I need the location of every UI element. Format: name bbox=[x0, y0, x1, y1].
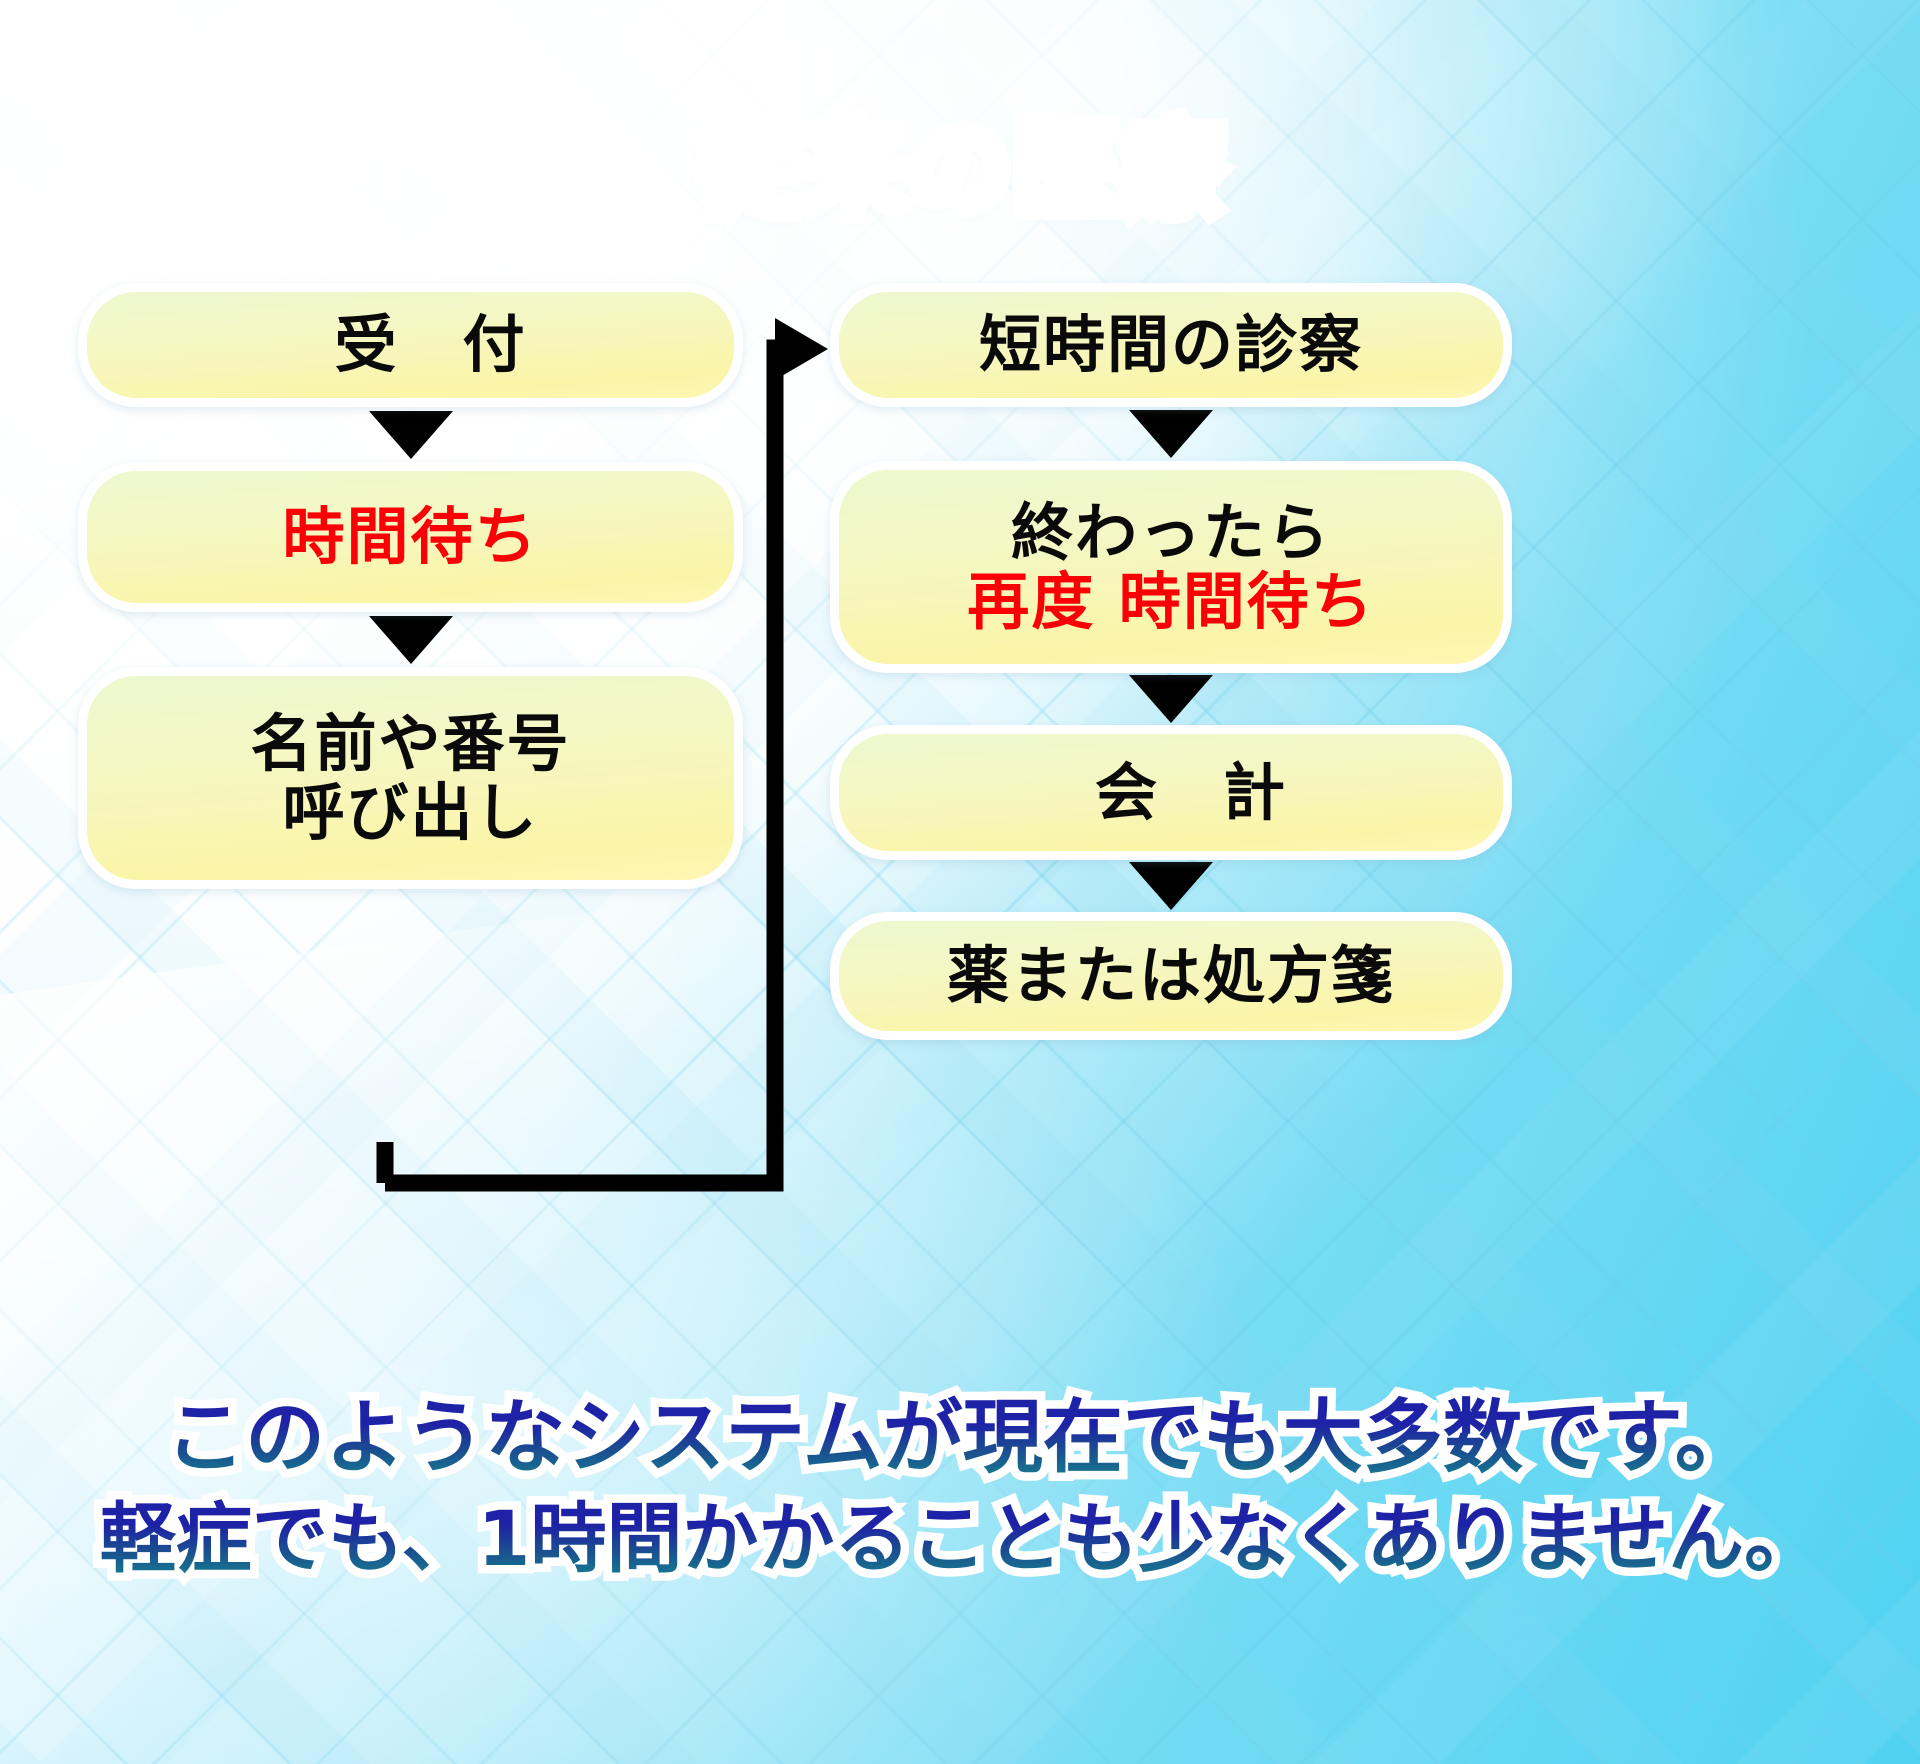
arrow-uketsuke-to-jikanmachi bbox=[78, 407, 743, 462]
flow-column-right: 短時間の診察 終わったら 再度 時間待ち 会 計 薬または処方箋 bbox=[830, 283, 1512, 1040]
flow-node-kaikei[interactable]: 会 計 bbox=[830, 725, 1512, 860]
triangle-down-icon bbox=[369, 616, 453, 664]
flow-node-jikanmachi-label: 時間待ち bbox=[282, 502, 538, 571]
background-sheen bbox=[0, 900, 782, 1764]
arrow-saido-to-kaikei bbox=[830, 673, 1512, 725]
flow-node-yobidashi[interactable]: 名前や番号 呼び出し bbox=[78, 667, 743, 889]
arrow-shinsatsu-to-saido bbox=[830, 407, 1512, 461]
flow-node-yobidashi-label: 名前や番号 呼び出し bbox=[250, 709, 570, 848]
slide-canvas: 従来の医療 受 付 時間待ち 名前や番号 呼び出し 短時間の診察 bbox=[0, 0, 1920, 1764]
page-title-text: 従来の医療 bbox=[695, 118, 1225, 222]
bottom-caption: このようなシステムが現在でも大多数です。 軽症でも、1時間かかることも少なくあり… bbox=[0, 1392, 1920, 1583]
flow-node-saido-label-line2: 再度 時間待ち bbox=[967, 567, 1375, 636]
caption-line-2: 軽症でも、1時間かかることも少なくありません。 bbox=[0, 1495, 1920, 1583]
flow-node-kusuri-label: 薬または処方箋 bbox=[947, 941, 1395, 1010]
flow-node-jikanmachi[interactable]: 時間待ち bbox=[78, 462, 743, 612]
flow-node-shinsatsu[interactable]: 短時間の診察 bbox=[830, 283, 1512, 407]
flow-column-left: 受 付 時間待ち 名前や番号 呼び出し bbox=[78, 283, 743, 889]
arrow-jikanmachi-to-yobidashi bbox=[78, 612, 743, 667]
triangle-down-icon bbox=[1129, 862, 1213, 910]
caption-line-1-text: このようなシステムが現在でも大多数です。 bbox=[165, 1392, 1755, 1485]
triangle-down-icon bbox=[1129, 675, 1213, 723]
flow-node-saido-label-line1: 終わったら bbox=[1011, 498, 1331, 567]
caption-line-1: このようなシステムが現在でも大多数です。 bbox=[0, 1392, 1920, 1485]
flow-node-uketsuke[interactable]: 受 付 bbox=[78, 283, 743, 407]
caption-line-2-text: 軽症でも、1時間かかることも少なくありません。 bbox=[100, 1495, 1820, 1583]
flow-node-kaikei-label: 会 計 bbox=[1055, 758, 1287, 827]
triangle-down-icon bbox=[369, 411, 453, 459]
page-title: 従来の医療 bbox=[0, 118, 1920, 222]
flow-node-uketsuke-label: 受 付 bbox=[294, 310, 526, 379]
flow-node-kusuri[interactable]: 薬または処方箋 bbox=[830, 912, 1512, 1040]
triangle-down-icon bbox=[1129, 410, 1213, 458]
flow-node-saido[interactable]: 終わったら 再度 時間待ち bbox=[830, 461, 1512, 673]
flow-node-shinsatsu-label: 短時間の診察 bbox=[979, 310, 1363, 379]
arrow-kaikei-to-kusuri bbox=[830, 860, 1512, 912]
